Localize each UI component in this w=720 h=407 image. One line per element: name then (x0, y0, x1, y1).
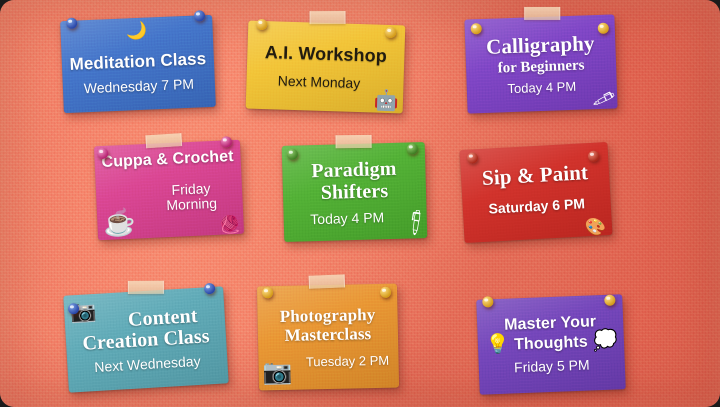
card-subtitle: Next Wednesday (88, 354, 207, 376)
card-sip-and-paint[interactable]: Sip & Paint Saturday 6 PM 🎨 (460, 142, 613, 243)
camera-icon: 📷 (262, 361, 292, 386)
card-subtitle: Friday 5 PM (508, 358, 596, 377)
pushpin-icon[interactable] (467, 152, 479, 164)
card-paradigm-shifters[interactable]: Paradigm Shifters Today 4 PM 🖊 (282, 142, 428, 242)
pushpin-icon[interactable] (604, 295, 615, 306)
thought-balloon-icon: 💭 (593, 330, 619, 351)
crescent-moon-icon: 🌙 (126, 22, 148, 40)
pushpin-icon[interactable] (380, 287, 391, 298)
pushpin-icon[interactable] (598, 23, 609, 34)
pushpin-icon[interactable] (482, 296, 493, 307)
yarn-icon: 🧶 (219, 216, 241, 234)
tape-strip (309, 11, 345, 24)
card-cuppa-and-crochet[interactable]: Cuppa & Crochet Friday Morning ☕ 🧶 (94, 140, 244, 241)
pushpin-icon[interactable] (204, 283, 216, 295)
card-meditation-class[interactable]: 🌙 Meditation Class Wednesday 7 PM (60, 15, 216, 113)
card-title-line2: Thoughts (508, 334, 594, 354)
card-title: Paradigm (305, 159, 403, 183)
pushpin-icon[interactable] (407, 143, 418, 154)
card-title: Cuppa & Crochet (95, 149, 240, 172)
pushpin-icon[interactable] (194, 10, 205, 21)
card-title: Sip & Paint (475, 162, 594, 190)
fountain-pen-icon: 🖋 (592, 88, 618, 111)
pushpin-icon[interactable] (287, 149, 298, 160)
tape-strip (309, 274, 345, 288)
card-title-line2: Masterclass (278, 325, 377, 345)
robot-icon: 🤖 (374, 91, 400, 112)
tape-strip (145, 133, 182, 148)
card-title: Meditation Class (63, 50, 212, 74)
pushpin-icon[interactable] (221, 136, 232, 147)
artist-palette-icon: 🎨 (584, 218, 606, 236)
card-subtitle: Next Monday (272, 73, 367, 91)
lightbulb-icon: 💡 (486, 335, 510, 355)
tape-strip (128, 281, 164, 294)
pushpin-icon[interactable] (66, 18, 77, 29)
pushpin-icon[interactable] (588, 150, 600, 162)
card-subtitle: Wednesday 7 PM (78, 77, 201, 97)
noticeboard: 🌙 Meditation Class Wednesday 7 PM A.I. W… (0, 0, 720, 407)
teacup-icon: ☕ (103, 209, 137, 236)
pushpin-icon[interactable] (262, 287, 273, 298)
card-title: Master Your (498, 314, 603, 335)
tape-strip (524, 7, 560, 20)
pushpin-icon[interactable] (385, 27, 396, 38)
card-content-creation-class[interactable]: Content Creation Class Next Wednesday 📷 (63, 286, 228, 392)
card-title: Photography (274, 306, 382, 326)
pushpin-icon[interactable] (471, 23, 482, 34)
card-subtitle: for Beginners (491, 57, 590, 77)
card-subtitle: Today 4 PM (304, 210, 390, 228)
card-subtitle: Friday Morning (140, 180, 243, 215)
card-title: Calligraphy (480, 33, 601, 59)
card-title-line2: Shifters (314, 181, 394, 204)
pushpin-icon[interactable] (256, 19, 267, 30)
card-calligraphy-for-beginners[interactable]: Calligraphy for Beginners Today 4 PM 🖋 (464, 14, 617, 113)
card-subtitle-secondary: Today 4 PM (501, 79, 582, 96)
card-ai-workshop[interactable]: A.I. Workshop Next Monday 🤖 (246, 21, 406, 114)
card-subtitle: Tuesday 2 PM (300, 353, 396, 369)
tape-strip (335, 135, 371, 148)
card-master-your-thoughts[interactable]: Master Your Thoughts Friday 5 PM 💡 💭 (476, 294, 626, 395)
card-title: A.I. Workshop (259, 43, 394, 66)
card-photography-masterclass[interactable]: Photography Masterclass Tuesday 2 PM 📷 (257, 284, 399, 391)
card-title-line2: Creation Class (76, 326, 216, 355)
pen-icon: 🖊 (401, 208, 432, 238)
card-subtitle: Saturday 6 PM (482, 196, 591, 217)
